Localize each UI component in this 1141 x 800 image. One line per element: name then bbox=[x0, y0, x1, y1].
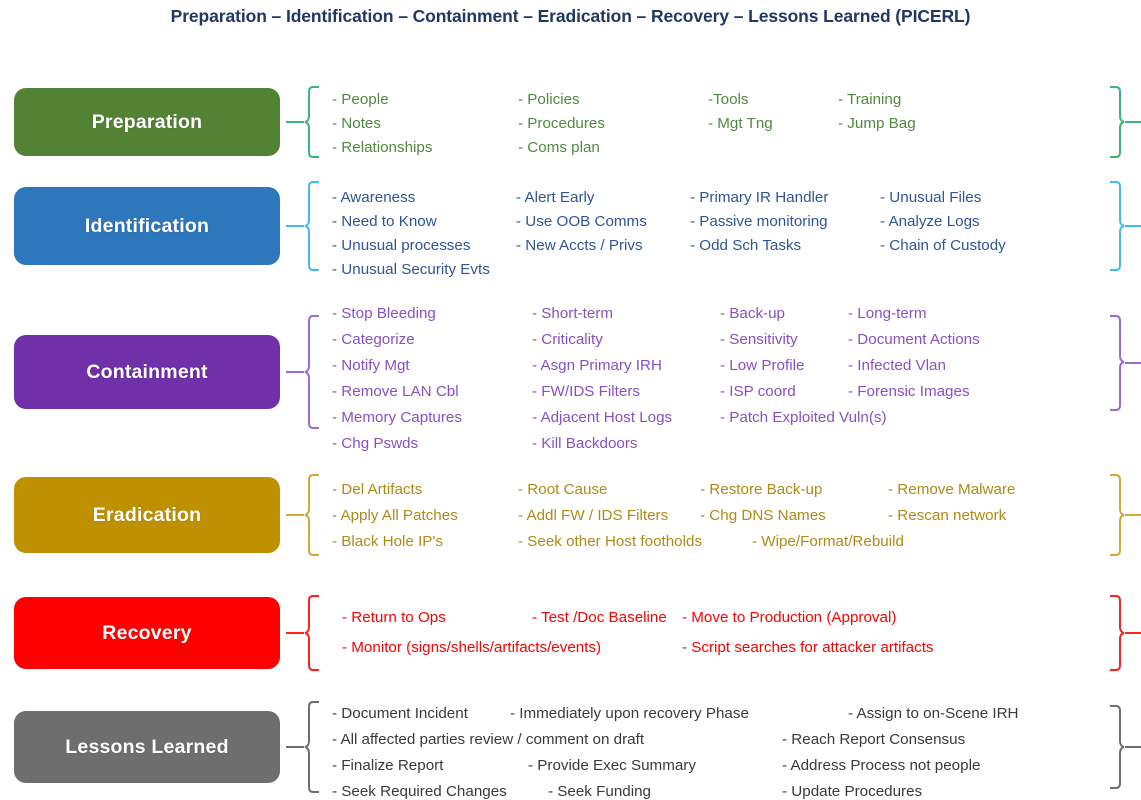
brace-right-preparation bbox=[1109, 85, 1125, 159]
list-item: - Infected Vlan bbox=[848, 358, 946, 373]
items-grid-containment: - Stop Bleeding - Categorize - Notify Mg… bbox=[320, 300, 1109, 444]
list-item: - Assign to on-Scene IRH bbox=[848, 706, 1019, 721]
list-item: - Monitor (signs/shells/artifacts/events… bbox=[342, 640, 601, 655]
brace-left-lessons-learned bbox=[304, 700, 320, 794]
items-grid-identification: - Awareness - Need to Know - Unusual pro… bbox=[320, 184, 1109, 268]
list-item: - Provide Exec Summary bbox=[528, 758, 696, 773]
list-item: - Alert Early bbox=[516, 190, 595, 205]
list-item: - Immediately upon recovery Phase bbox=[510, 706, 749, 721]
brace-left-containment bbox=[304, 314, 320, 430]
connector-line-recovery bbox=[286, 632, 304, 634]
list-item: - Seek other Host footholds bbox=[518, 534, 702, 549]
phase-label-eradication: Eradication bbox=[93, 504, 201, 527]
list-item: - Unusual processes bbox=[332, 238, 470, 253]
connector-line-identification bbox=[286, 225, 304, 227]
items-grid-lessons-learned: - Document Incident - All affected parti… bbox=[320, 700, 1109, 794]
brace-right-identification bbox=[1109, 180, 1125, 272]
items-eradication: - Del Artifacts - Apply All Patches - Bl… bbox=[320, 472, 1109, 558]
list-item: - Memory Captures bbox=[332, 410, 462, 425]
list-item: - Address Process not people bbox=[782, 758, 980, 773]
phase-box-containment[interactable]: Containment bbox=[14, 335, 280, 409]
items-lessons-learned: - Document Incident - All affected parti… bbox=[320, 700, 1109, 794]
phase-label-identification: Identification bbox=[85, 215, 209, 238]
phase-label-lessons-learned: Lessons Learned bbox=[65, 736, 228, 759]
list-item: - People bbox=[332, 92, 389, 107]
tail-line-recovery bbox=[1125, 632, 1141, 634]
brace-right-eradication bbox=[1109, 473, 1125, 557]
list-item: - Chain of Custody bbox=[880, 238, 1006, 253]
list-item: - Apply All Patches bbox=[332, 508, 458, 523]
list-item: - Return to Ops bbox=[342, 610, 446, 625]
list-item: - Chg DNS Names bbox=[700, 508, 826, 523]
brace-left-eradication bbox=[304, 473, 320, 557]
phase-row-identification: Identification - Awareness - Need to Kno… bbox=[0, 184, 1141, 268]
list-item: - Coms plan bbox=[518, 140, 600, 155]
list-item: - Chg Pswds bbox=[332, 436, 418, 451]
list-item: - Unusual Files bbox=[880, 190, 981, 205]
page-title: Preparation – Identification – Containme… bbox=[0, 6, 1141, 27]
list-item: - Remove LAN Cbl bbox=[332, 384, 459, 399]
phase-box-recovery[interactable]: Recovery bbox=[14, 597, 280, 669]
list-item: - Rescan network bbox=[888, 508, 1006, 523]
phase-row-recovery: Recovery - Return to Ops - Monitor (sign… bbox=[0, 596, 1141, 670]
phase-row-containment: Containment - Stop Bleeding - Categorize… bbox=[0, 300, 1141, 444]
connector-line-preparation bbox=[286, 121, 304, 123]
list-item: - Criticality bbox=[532, 332, 603, 347]
list-item: - Relationships bbox=[332, 140, 432, 155]
items-identification: - Awareness - Need to Know - Unusual pro… bbox=[320, 184, 1109, 268]
items-containment: - Stop Bleeding - Categorize - Notify Mg… bbox=[320, 300, 1109, 444]
list-item: - Policies bbox=[518, 92, 580, 107]
list-item: - Forensic Images bbox=[848, 384, 970, 399]
connector-line-eradication bbox=[286, 514, 304, 516]
list-item: - Categorize bbox=[332, 332, 415, 347]
list-item: - Wipe/Format/Rebuild bbox=[752, 534, 904, 549]
tail-line-eradication bbox=[1125, 514, 1141, 516]
phase-label-recovery: Recovery bbox=[102, 622, 191, 645]
list-item: - Del Artifacts bbox=[332, 482, 422, 497]
connector-line-containment bbox=[286, 371, 304, 373]
list-item: - Unusual Security Evts bbox=[332, 262, 490, 277]
list-item: - Black Hole IP's bbox=[332, 534, 443, 549]
list-item: - Asgn Primary IRH bbox=[532, 358, 662, 373]
phase-label-preparation: Preparation bbox=[92, 111, 203, 134]
phase-row-lessons-learned: Lessons Learned - Document Incident - Al… bbox=[0, 700, 1141, 794]
list-item: - Notes bbox=[332, 116, 381, 131]
list-item: - Stop Bleeding bbox=[332, 306, 436, 321]
list-item: - Kill Backdoors bbox=[532, 436, 638, 451]
tail-line-preparation bbox=[1125, 121, 1141, 123]
list-item: - Document Incident bbox=[332, 706, 468, 721]
list-item: - Addl FW / IDS Filters bbox=[518, 508, 668, 523]
list-item: -Tools bbox=[708, 92, 749, 107]
phase-box-preparation[interactable]: Preparation bbox=[14, 88, 280, 156]
list-item: - Jump Bag bbox=[838, 116, 916, 131]
list-item: - Training bbox=[838, 92, 901, 107]
phase-label-containment: Containment bbox=[86, 361, 207, 384]
list-item: - Notify Mgt bbox=[332, 358, 410, 373]
phase-box-eradication[interactable]: Eradication bbox=[14, 477, 280, 553]
list-item: - Remove Malware bbox=[888, 482, 1015, 497]
list-item: - Document Actions bbox=[848, 332, 980, 347]
list-item: - Primary IR Handler bbox=[690, 190, 828, 205]
list-item: - Passive monitoring bbox=[690, 214, 828, 229]
list-item: - Reach Report Consensus bbox=[782, 732, 965, 747]
list-item: - Update Procedures bbox=[782, 784, 922, 799]
tail-line-lessons-learned bbox=[1125, 746, 1141, 748]
list-item: - Procedures bbox=[518, 116, 605, 131]
list-item: - Awareness bbox=[332, 190, 415, 205]
items-recovery: - Return to Ops - Monitor (signs/shells/… bbox=[320, 596, 1109, 670]
items-grid-preparation: - People - Notes - Relationships - Polic… bbox=[320, 84, 1109, 160]
items-grid-eradication: - Del Artifacts - Apply All Patches - Bl… bbox=[320, 472, 1109, 558]
list-item: - Short-term bbox=[532, 306, 613, 321]
list-item: - ISP coord bbox=[720, 384, 796, 399]
brace-left-recovery bbox=[304, 594, 320, 672]
brace-left-identification bbox=[304, 180, 320, 272]
brace-left-preparation bbox=[304, 85, 320, 159]
list-item: - Adjacent Host Logs bbox=[532, 410, 672, 425]
phase-box-identification[interactable]: Identification bbox=[14, 187, 280, 265]
list-item: - Analyze Logs bbox=[880, 214, 980, 229]
list-item: - FW/IDS Filters bbox=[532, 384, 640, 399]
list-item: - Restore Back-up bbox=[700, 482, 822, 497]
connector-line-lessons-learned bbox=[286, 746, 304, 748]
brace-right-recovery bbox=[1109, 594, 1125, 672]
list-item: - Seek Required Changes bbox=[332, 784, 507, 799]
list-item: - Seek Funding bbox=[548, 784, 651, 799]
list-item: - Mgt Tng bbox=[708, 116, 773, 131]
list-item: - Sensitivity bbox=[720, 332, 798, 347]
phase-row-preparation: Preparation - People - Notes - Relations… bbox=[0, 84, 1141, 160]
list-item: - Root Cause bbox=[518, 482, 607, 497]
brace-right-containment bbox=[1109, 332, 1125, 412]
list-item: - Odd Sch Tasks bbox=[690, 238, 801, 253]
phase-box-lessons-learned[interactable]: Lessons Learned bbox=[14, 711, 280, 783]
list-item: - Finalize Report bbox=[332, 758, 443, 773]
brace-right-lessons-learned bbox=[1109, 704, 1125, 790]
list-item: - All affected parties review / comment … bbox=[332, 732, 644, 747]
list-item: - New Accts / Privs bbox=[516, 238, 643, 253]
tail-line-identification bbox=[1125, 225, 1141, 227]
items-grid-recovery: - Return to Ops - Monitor (signs/shells/… bbox=[320, 596, 1109, 670]
list-item: - Test /Doc Baseline bbox=[532, 610, 667, 625]
list-item: - Use OOB Comms bbox=[516, 214, 647, 229]
list-item: - Need to Know bbox=[332, 214, 437, 229]
list-item: - Low Profile bbox=[720, 358, 804, 373]
list-item: - Script searches for attacker artifacts bbox=[682, 640, 934, 655]
list-item: - Patch Exploited Vuln(s) bbox=[720, 410, 887, 425]
list-item: - Long-term bbox=[848, 306, 927, 321]
tail-line-containment bbox=[1125, 362, 1141, 364]
list-item: - Move to Production (Approval) bbox=[682, 610, 896, 625]
phase-row-eradication: Eradication - Del Artifacts - Apply All … bbox=[0, 472, 1141, 558]
items-preparation: - People - Notes - Relationships - Polic… bbox=[320, 84, 1109, 160]
list-item: - Back-up bbox=[720, 306, 785, 321]
